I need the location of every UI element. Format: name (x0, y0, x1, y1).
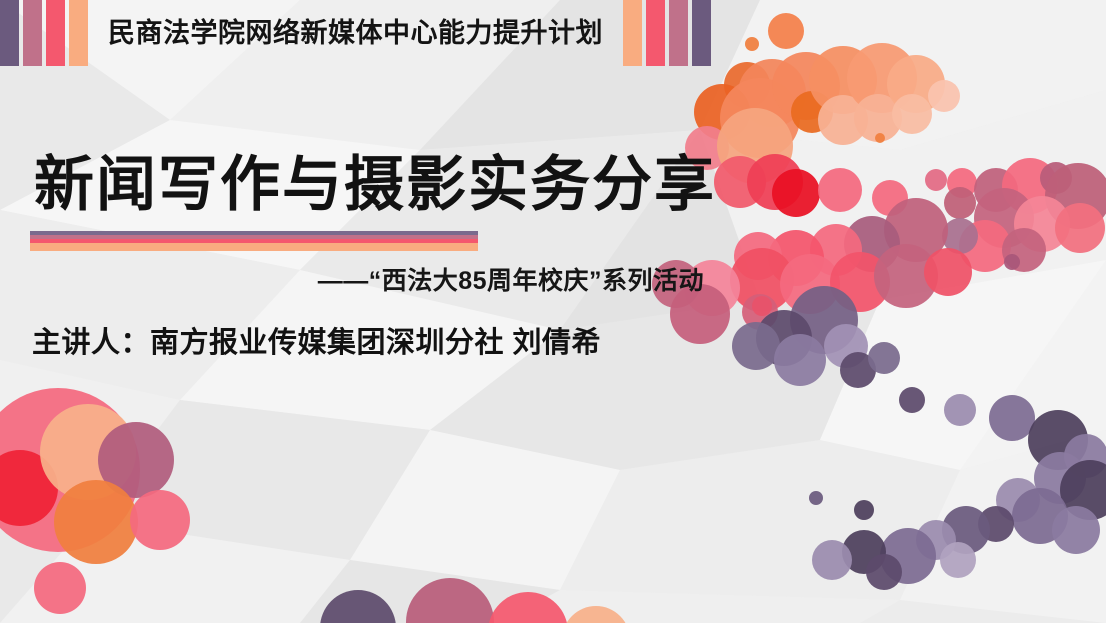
bubble-0 (745, 37, 759, 51)
bubble-32 (1055, 203, 1105, 253)
presentation-slide: 民商法学院网络新媒体中心能力提升计划 新闻写作与摄影实务分享 ——“西法大85周… (0, 0, 1106, 623)
bubble-89 (562, 606, 630, 623)
bubble-13 (892, 94, 932, 134)
bubble-61 (989, 395, 1035, 441)
presenter-line: 主讲人：南方报业传媒集团深圳分社 刘倩希 (0, 319, 740, 361)
bubble-75 (866, 554, 902, 590)
bubble-50 (752, 296, 772, 316)
bubble-23 (925, 169, 947, 191)
bubble-25 (944, 187, 976, 219)
bubble-1 (768, 13, 804, 49)
bubble-21 (818, 168, 862, 212)
bubble-14 (928, 80, 960, 112)
bubble-60 (944, 394, 976, 426)
bubble-87 (406, 578, 494, 623)
bubble-84 (130, 490, 190, 550)
bubble-86 (320, 590, 396, 623)
title-text-block: 新闻写作与摄影实务分享 ——“西法大85周年校庆”系列活动 主讲人：南方报业传媒… (0, 150, 740, 361)
bubble-76 (812, 540, 852, 580)
bubble-20 (772, 169, 820, 217)
bubble-85 (34, 562, 86, 614)
bubble-73 (940, 542, 976, 578)
bubble-77 (854, 500, 874, 520)
bubble-78 (809, 491, 823, 505)
bubble-59 (899, 387, 925, 413)
bubble-55 (774, 334, 826, 386)
page-title: 新闻写作与摄影实务分享 (0, 150, 740, 221)
bubble-58 (868, 342, 900, 374)
bubble-15 (875, 133, 885, 143)
subtitle: ——“西法大85周年校庆”系列活动 (0, 261, 740, 297)
bubble-88 (488, 592, 568, 623)
title-underline-stripes (30, 231, 478, 251)
bubble-49 (1004, 254, 1020, 270)
bubble-45 (924, 248, 972, 296)
bubble-83 (54, 480, 138, 564)
bubble-68 (1052, 506, 1100, 554)
stripe-peach (30, 243, 478, 251)
